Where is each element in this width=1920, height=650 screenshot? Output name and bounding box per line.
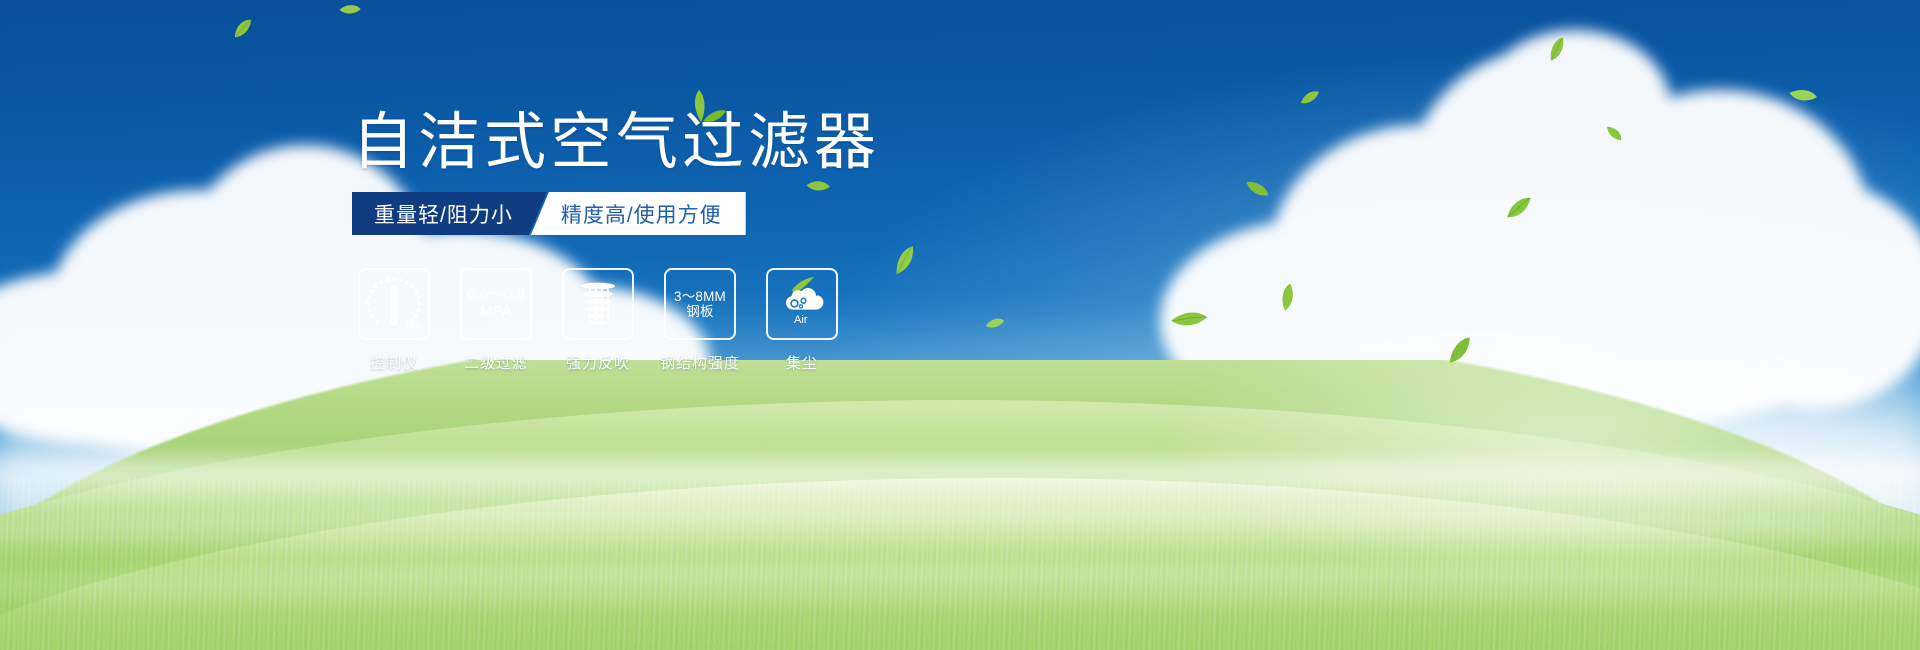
- tag-group: 重量轻/阻力小 精度高/使用方便: [352, 192, 746, 235]
- feature-label: 控制仪: [370, 352, 418, 373]
- feature-item-controller[interactable]: NO OFF 控制仪: [358, 268, 430, 373]
- pressure-unit: MPA: [467, 304, 525, 321]
- feature-item-pressure[interactable]: 0.6～0.8 MPA 二级过滤: [460, 268, 532, 373]
- pressure-text-icon: 0.6～0.8 MPA: [460, 268, 532, 340]
- product-banner: 自洁式空气过滤器 重量轻/阻力小 精度高/使用方便: [0, 0, 1920, 650]
- feature-list: NO OFF 控制仪 0.6～0.8 MPA 二级过滤: [358, 268, 838, 373]
- feature-item-steel[interactable]: 3～8MM 钢板 钢结构强度: [664, 268, 736, 373]
- feature-label: 钢结构强度: [660, 352, 740, 373]
- air-cloud-icon: Air: [766, 268, 838, 340]
- feature-label: 强力反吹: [566, 352, 630, 373]
- feature-label: 集尘: [786, 352, 818, 373]
- steel-material: 钢板: [674, 304, 726, 319]
- gauge-off-label: OFF: [406, 321, 421, 330]
- feature-item-reverse-blow[interactable]: 强力反吹: [562, 268, 634, 373]
- gauge-no-label: NO: [365, 297, 376, 306]
- steel-plate-text-icon: 3～8MM 钢板: [664, 268, 736, 340]
- feature-label: 二级过滤: [464, 352, 528, 373]
- steel-thickness: 3～8MM: [674, 289, 726, 304]
- pressure-value: 0.6～0.8: [467, 287, 525, 304]
- air-label: Air: [794, 314, 808, 326]
- feature-item-dust[interactable]: Air 集尘: [766, 268, 838, 373]
- gauge-controller-icon: NO OFF: [358, 268, 430, 340]
- page-title: 自洁式空气过滤器: [352, 112, 880, 174]
- tag-feature-1: 重量轻/阻力小: [352, 192, 547, 235]
- reverse-blow-icon: [562, 268, 634, 340]
- tag-feature-2: 精度高/使用方便: [531, 192, 746, 235]
